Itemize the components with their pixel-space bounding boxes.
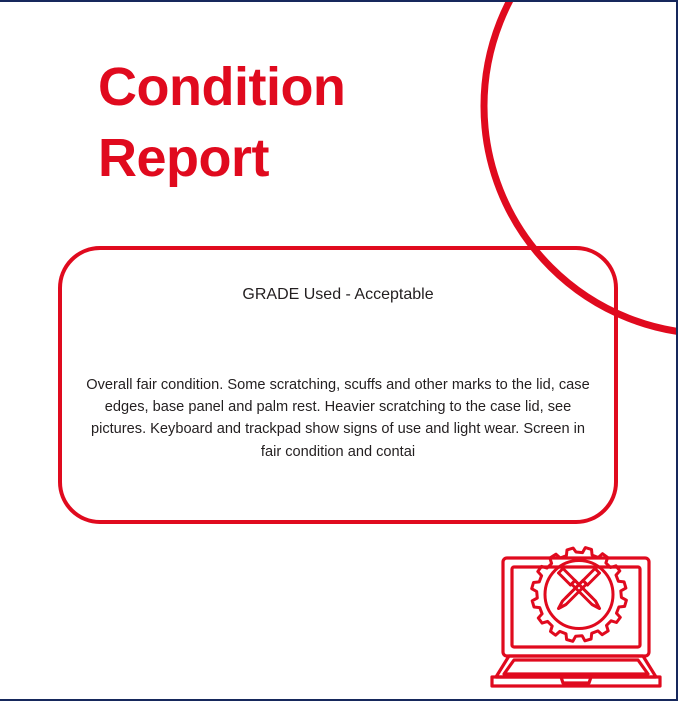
grade-label: GRADE Used - Acceptable: [62, 286, 614, 304]
page-title: Condition Report: [98, 52, 518, 195]
condition-report-slide: Condition Report GRADE Used - Acceptable…: [0, 0, 678, 701]
condition-description: Overall fair condition. Some scratching,…: [84, 374, 592, 463]
laptop-repair-icon: [487, 546, 677, 696]
condition-info-box: GRADE Used - Acceptable Overall fair con…: [58, 246, 618, 524]
